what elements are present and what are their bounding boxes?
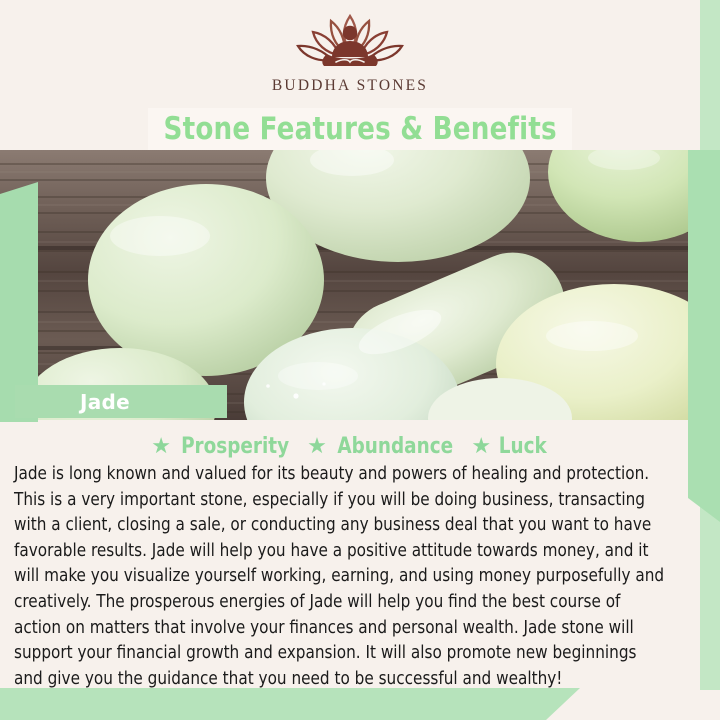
lotus-meditation-icon xyxy=(290,8,410,76)
star-icon: ★ xyxy=(471,435,491,457)
star-icon: ★ xyxy=(307,435,327,457)
stone-name-label: Jade xyxy=(80,390,130,414)
description-text: Jade is long known and valued for its be… xyxy=(14,462,666,692)
title-banner: Stone Features & Benefits xyxy=(148,108,572,150)
benefit-item: ★ Prosperity xyxy=(151,434,293,459)
benefit-label: Abundance xyxy=(337,434,453,459)
benefit-item: ★ Abundance xyxy=(307,434,457,459)
jade-stones-photo xyxy=(0,150,720,420)
bottom-accent-wedge xyxy=(0,688,580,720)
benefit-label: Luck xyxy=(499,434,547,459)
stone-info-card: BUDDHA STONES Stone Features & Benefits … xyxy=(0,0,720,720)
right-accent-strip xyxy=(688,150,720,522)
stone-name-bar: Jade xyxy=(15,385,227,418)
page-title: Stone Features & Benefits xyxy=(163,111,556,147)
benefit-label: Prosperity xyxy=(181,434,289,459)
brand-name: BUDDHA STONES xyxy=(272,77,428,95)
benefits-row: ★ Prosperity ★ Abundance ★ Luck xyxy=(0,430,700,462)
star-icon: ★ xyxy=(151,435,171,457)
benefit-item: ★ Luck xyxy=(471,434,548,459)
brand-logo: BUDDHA STONES xyxy=(0,8,700,112)
